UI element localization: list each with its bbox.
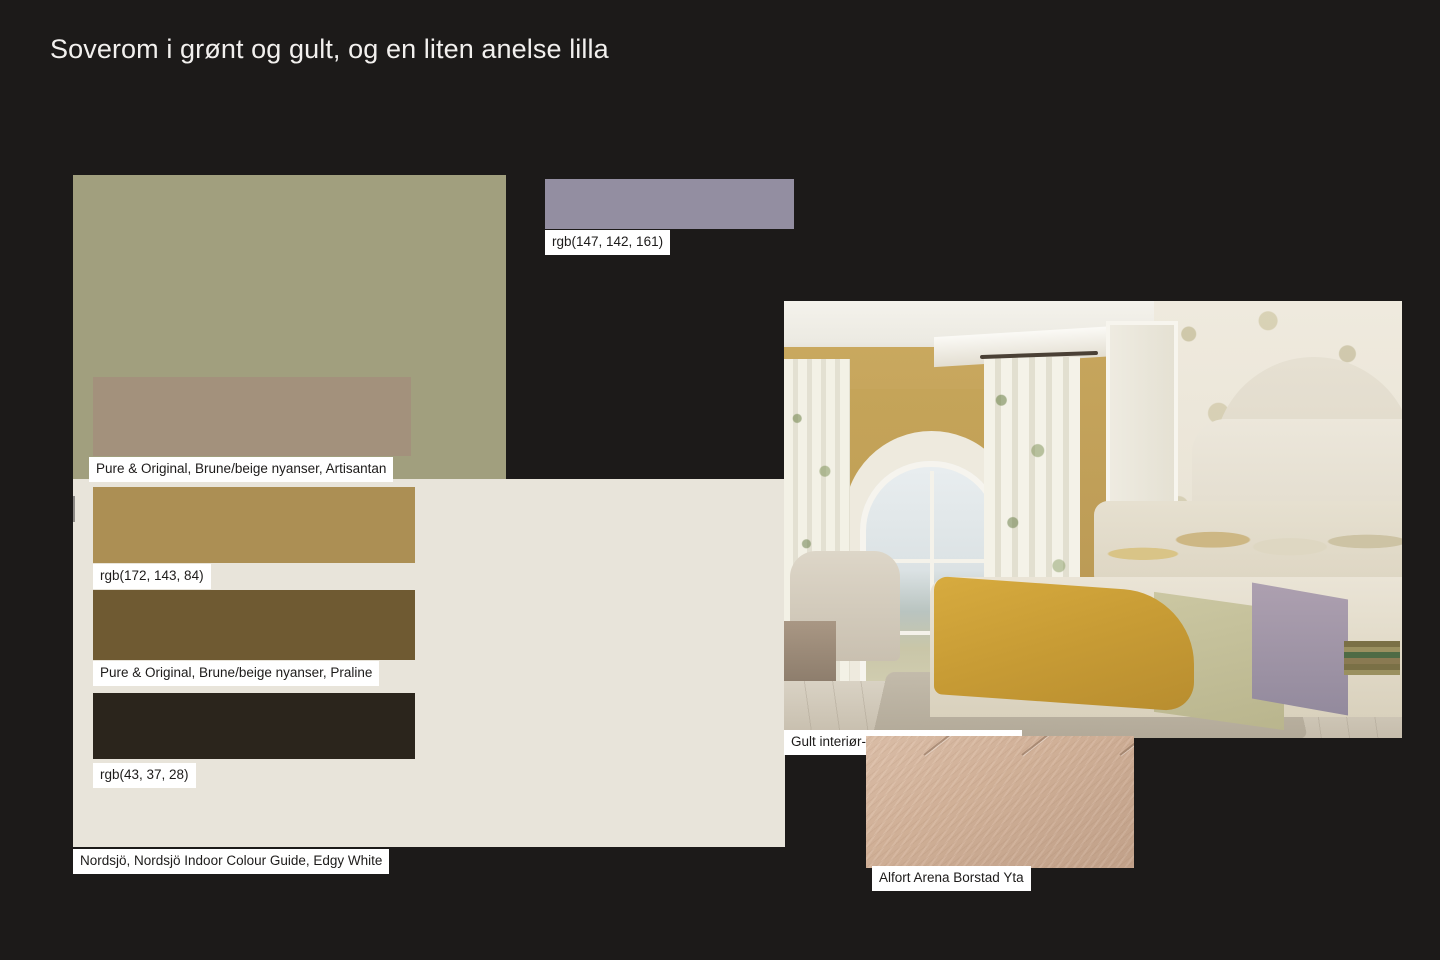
image-bedroom-photo[interactable] <box>784 301 1402 738</box>
swatch-artisantan[interactable] <box>93 377 411 456</box>
caption-dark-espresso: rgb(43, 37, 28) <box>93 763 196 788</box>
caption-ochre: rgb(172, 143, 84) <box>93 564 211 589</box>
image-wood-sample[interactable] <box>866 736 1134 868</box>
caption-lilac: rgb(147, 142, 161) <box>545 230 670 255</box>
caption-wood-sample: Alfort Arena Borstad Yta <box>872 866 1031 891</box>
page-title: Soverom i grønt og gult, og en liten ane… <box>50 30 670 68</box>
wood-grain <box>866 736 1134 868</box>
photo-throw-lilac <box>1252 583 1348 716</box>
panel-edge-marker <box>73 496 75 522</box>
caption-artisantan: Pure & Original, Brune/beige nyanser, Ar… <box>89 457 393 482</box>
photo-books <box>1344 641 1400 675</box>
photo-pillows <box>1094 501 1402 589</box>
caption-praline: Pure & Original, Brune/beige nyanser, Pr… <box>93 661 379 686</box>
swatch-dark-espresso[interactable] <box>93 693 415 759</box>
caption-edgy-white: Nordsjö, Nordsjö Indoor Colour Guide, Ed… <box>73 849 389 874</box>
photo-wooden-stool <box>784 621 836 683</box>
swatch-lilac[interactable] <box>545 179 794 229</box>
swatch-ochre[interactable] <box>93 487 415 563</box>
swatch-praline[interactable] <box>93 590 415 660</box>
